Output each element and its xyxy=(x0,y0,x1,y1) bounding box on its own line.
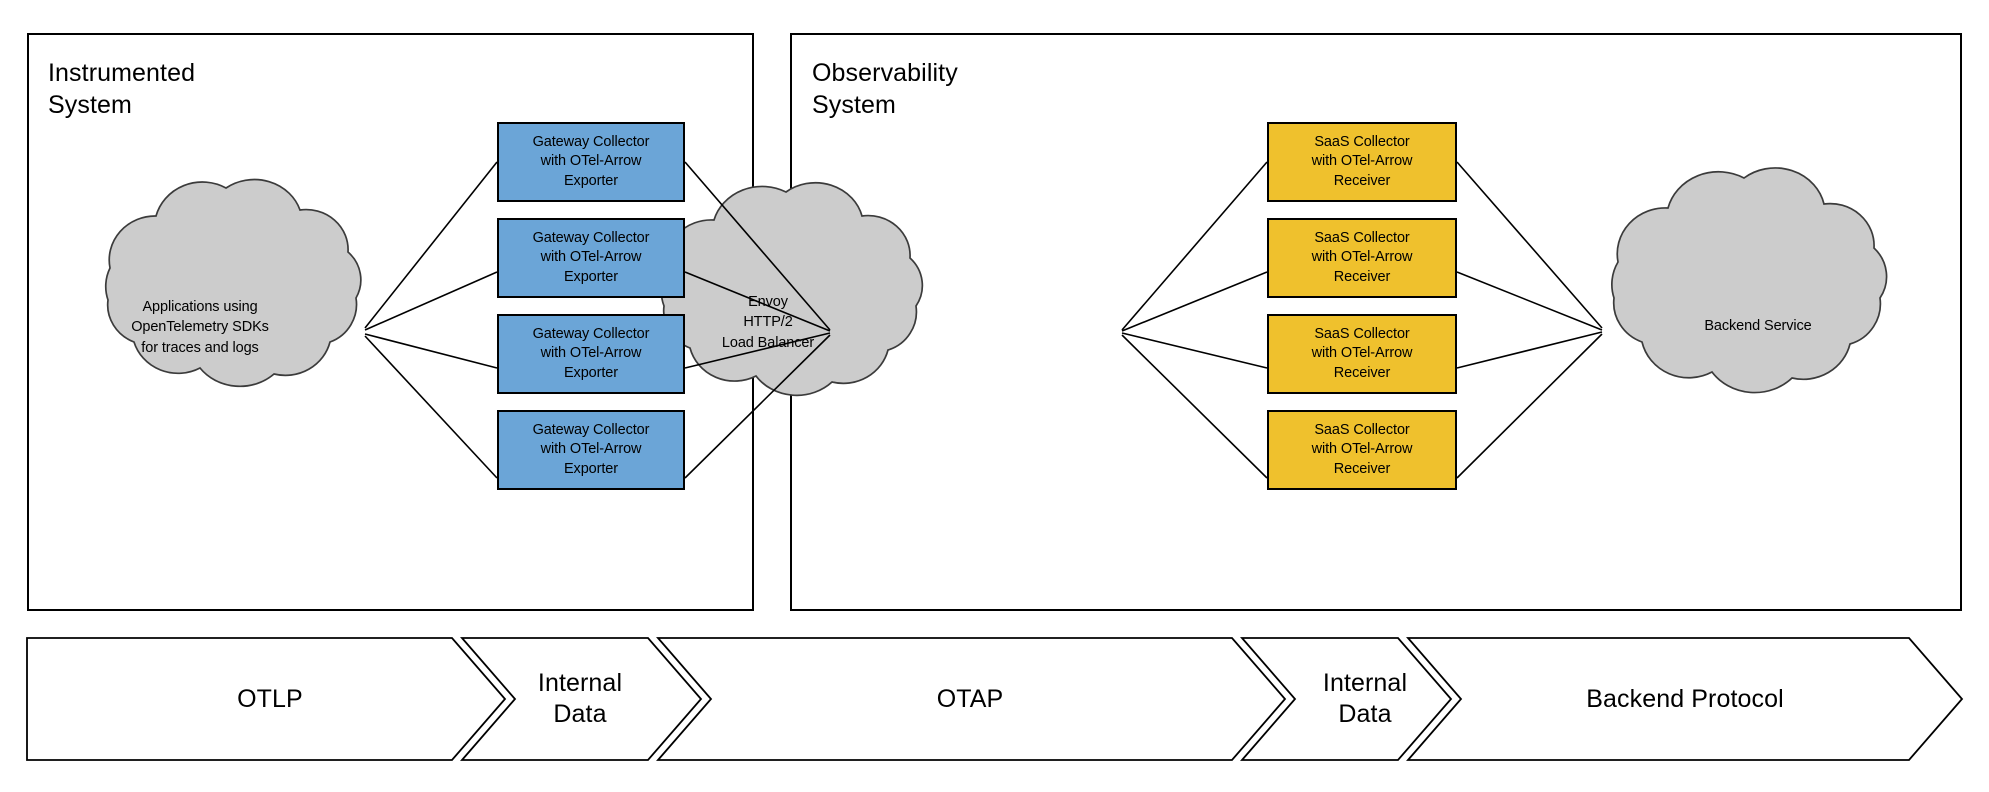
gateway-collector-box-3[interactable]: Gateway Collector with OTel-Arrow Export… xyxy=(497,314,685,394)
protocol-segment-backend-protocol[interactable] xyxy=(1408,638,1962,760)
saas-collector-box-1[interactable]: SaaS Collector with OTel-Arrow Receiver xyxy=(1267,122,1457,202)
protocol-segment-otlp[interactable] xyxy=(27,638,505,760)
gateway-collector-box-2[interactable]: Gateway Collector with OTel-Arrow Export… xyxy=(497,218,685,298)
saas-collector-box-3[interactable]: SaaS Collector with OTel-Arrow Receiver xyxy=(1267,314,1457,394)
saas-collector-box-4[interactable]: SaaS Collector with OTel-Arrow Receiver xyxy=(1267,410,1457,490)
protocol-banner xyxy=(27,638,1962,760)
cloud-applications xyxy=(106,180,361,387)
edges-apps-to-gateway-collectors xyxy=(365,162,497,478)
cloud-backend-service xyxy=(1612,168,1887,393)
diagram-canvas: Instrumented System Observability System xyxy=(0,0,1989,792)
protocol-segment-otap[interactable] xyxy=(658,638,1285,760)
edges-envoy-to-saas-collectors xyxy=(1122,162,1267,478)
gateway-collector-box-4[interactable]: Gateway Collector with OTel-Arrow Export… xyxy=(497,410,685,490)
gateway-collector-box-1[interactable]: Gateway Collector with OTel-Arrow Export… xyxy=(497,122,685,202)
saas-collector-box-2[interactable]: SaaS Collector with OTel-Arrow Receiver xyxy=(1267,218,1457,298)
diagram-vector-layer xyxy=(0,0,1989,792)
edges-saas-collectors-to-backend xyxy=(1457,162,1602,478)
